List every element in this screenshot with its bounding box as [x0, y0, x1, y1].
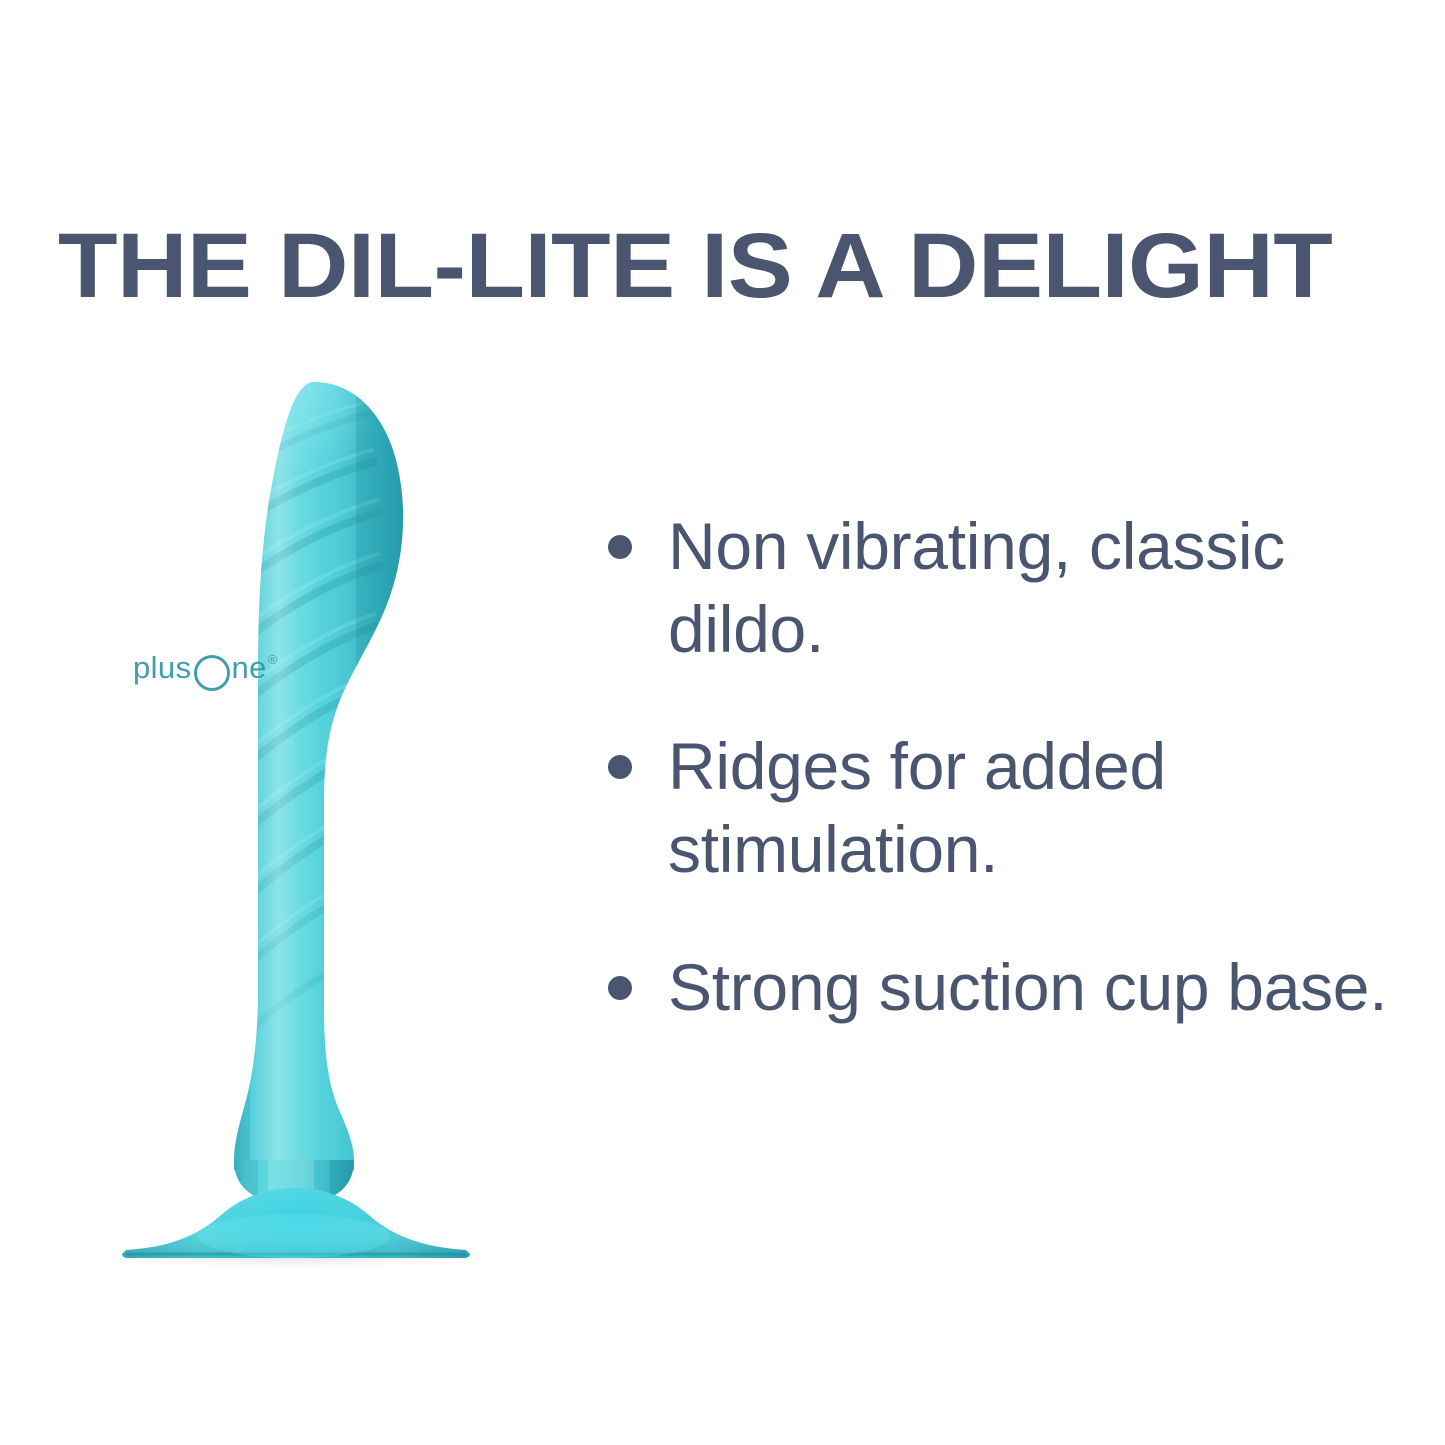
product-feature-card: THE DIL-LITE IS A DELIGHT — [0, 0, 1445, 1445]
bullet-icon — [608, 755, 632, 779]
feature-list: Non vibrating, classic dildo. Ridges for… — [600, 505, 1400, 1029]
bullet-icon — [608, 976, 632, 1000]
product-image — [118, 370, 548, 1270]
list-item: Ridges for added stimulation. — [600, 725, 1400, 891]
list-item: Strong suction cup base. — [600, 946, 1400, 1029]
feature-text: Non vibrating, classic dildo. — [668, 509, 1285, 666]
feature-text: Ridges for added stimulation. — [668, 729, 1166, 886]
page-title: THE DIL-LITE IS A DELIGHT — [58, 220, 1445, 312]
bullet-icon — [608, 535, 632, 559]
feature-text: Strong suction cup base. — [668, 950, 1387, 1024]
list-item: Non vibrating, classic dildo. — [600, 505, 1400, 671]
